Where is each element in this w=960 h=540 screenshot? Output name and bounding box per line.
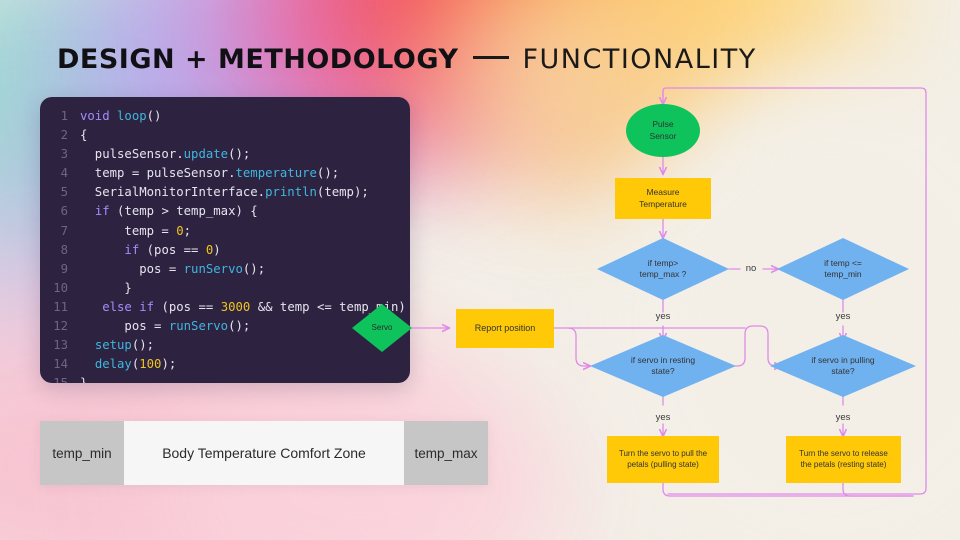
flow-node-decision-servo-resting: if servo in resting state? [590, 335, 736, 397]
flow-node-pulse-sensor: Pulse Sensor [626, 104, 700, 157]
flow-node-report-position: Report position [456, 309, 554, 348]
edge-label-yes-temp-min: yes [828, 311, 858, 322]
flow-node-action-pull-petals-label: Turn the servo to pull the petals (pulli… [619, 449, 707, 470]
diamond-shape-servo [352, 304, 412, 352]
slide-canvas: Design + Methodology Functionality 1void… [0, 0, 960, 540]
diamond-shape-temp-max [597, 238, 729, 300]
flow-node-action-release-petals: Turn the servo to release the petals (re… [786, 436, 901, 483]
flow-node-decision-servo-pulling: if servo in pulling state? [770, 335, 916, 397]
edge-label-no: no [736, 263, 766, 274]
flowchart: Servo Report position Pulse Sensor Measu… [0, 0, 960, 540]
flow-node-servo: Servo [352, 304, 412, 352]
flow-node-decision-temp-min: if temp <= temp_min [777, 238, 909, 300]
edge-label-yes-servo-resting: yes [648, 412, 678, 423]
flow-node-report-position-label: Report position [475, 323, 536, 335]
flow-node-pulse-sensor-label: Pulse Sensor [650, 119, 677, 141]
edge-label-yes-temp-max: yes [648, 311, 678, 322]
diamond-shape-temp-min [777, 238, 909, 300]
edge-label-yes-servo-pulling: yes [828, 412, 858, 423]
flow-node-action-release-petals-label: Turn the servo to release the petals (re… [799, 449, 888, 470]
diamond-shape-servo-resting [590, 335, 736, 397]
flow-node-measure-temperature: Measure Temperature [615, 178, 711, 219]
flow-node-action-pull-petals: Turn the servo to pull the petals (pulli… [607, 436, 719, 483]
flow-node-measure-temperature-label: Measure Temperature [639, 187, 687, 209]
flow-node-decision-temp-max: if temp> temp_max ? [597, 238, 729, 300]
diamond-shape-servo-pulling [770, 335, 916, 397]
